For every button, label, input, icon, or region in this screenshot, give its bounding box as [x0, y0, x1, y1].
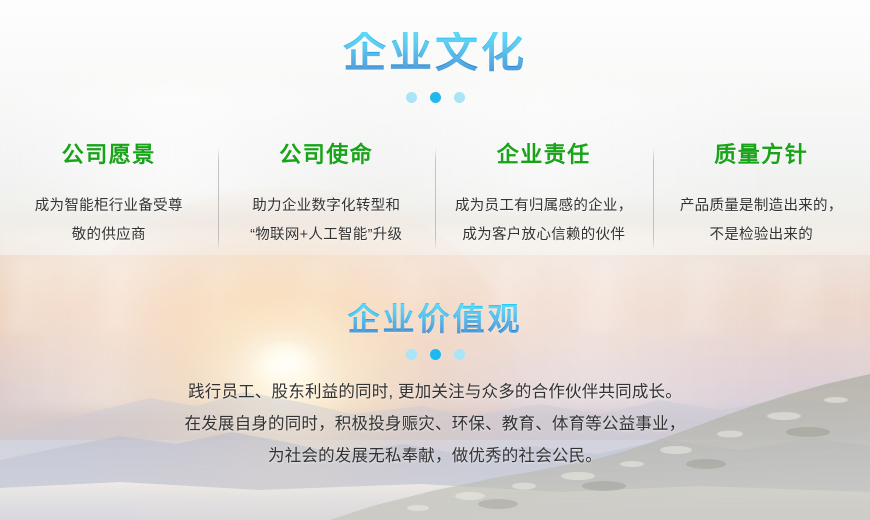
pillar-mission: 公司使命 助力企业数字化转型和 “物联网+人工智能”升级 [218, 134, 436, 250]
dot-center-icon [430, 349, 441, 360]
pillar-text-line: 成为智能柜行业备受尊 [10, 192, 208, 221]
pillar-quality-policy: 质量方针 产品质量是制造出来的， 不是检验出来的 [653, 134, 870, 250]
pillar-text-line: 助力企业数字化转型和 [228, 192, 426, 221]
culture-banner: 企业文化 公司愿景 成为智能柜行业备受尊 敬的供应商 公司使命 助力企业数字化转… [0, 0, 870, 520]
pillar-text: 成为员工有归属感的企业， 成为客户放心信赖的伙伴 [445, 192, 643, 250]
values-line: 践行员工、股东利益的同时, 更加关注与众多的合作伙伴共同成长。 [0, 376, 870, 408]
pillar-text: 助力企业数字化转型和 “物联网+人工智能”升级 [228, 192, 426, 250]
pillar-text-line: “物联网+人工智能”升级 [228, 221, 426, 250]
dot-left-icon [406, 349, 417, 360]
pillar-title: 公司使命 [228, 144, 426, 166]
pillar-text: 产品质量是制造出来的， 不是检验出来的 [663, 192, 861, 250]
pillar-text-line: 不是检验出来的 [663, 221, 861, 250]
values-title: 企业价值观 [0, 303, 870, 335]
values-line: 为社会的发展无私奉献，做优秀的社会公民。 [0, 440, 870, 472]
pillar-title: 质量方针 [663, 144, 861, 166]
dot-center-icon [430, 92, 441, 103]
pillar-title: 公司愿景 [10, 144, 208, 166]
values-dot-ornament [0, 349, 870, 360]
pillar-text-line: 产品质量是制造出来的， [663, 192, 861, 221]
pillar-text-line: 成为客户放心信赖的伙伴 [445, 221, 643, 250]
pillar-text: 成为智能柜行业备受尊 敬的供应商 [10, 192, 208, 250]
title-dot-ornament [0, 92, 870, 103]
pillar-vision: 公司愿景 成为智能柜行业备受尊 敬的供应商 [0, 134, 218, 250]
pillar-list: 公司愿景 成为智能柜行业备受尊 敬的供应商 公司使命 助力企业数字化转型和 “物… [0, 134, 870, 250]
pillar-text-line: 成为员工有归属感的企业， [445, 192, 643, 221]
dot-left-icon [406, 92, 417, 103]
pillar-title: 企业责任 [445, 144, 643, 166]
pillar-responsibility: 企业责任 成为员工有归属感的企业， 成为客户放心信赖的伙伴 [435, 134, 653, 250]
dot-right-icon [454, 92, 465, 103]
values-line: 在发展自身的同时，积极投身赈灾、环保、教育、体育等公益事业， [0, 408, 870, 440]
dot-right-icon [454, 349, 465, 360]
page-title: 企业文化 [0, 32, 870, 75]
pillar-text-line: 敬的供应商 [10, 221, 208, 250]
values-paragraph: 践行员工、股东利益的同时, 更加关注与众多的合作伙伴共同成长。 在发展自身的同时… [0, 376, 870, 472]
